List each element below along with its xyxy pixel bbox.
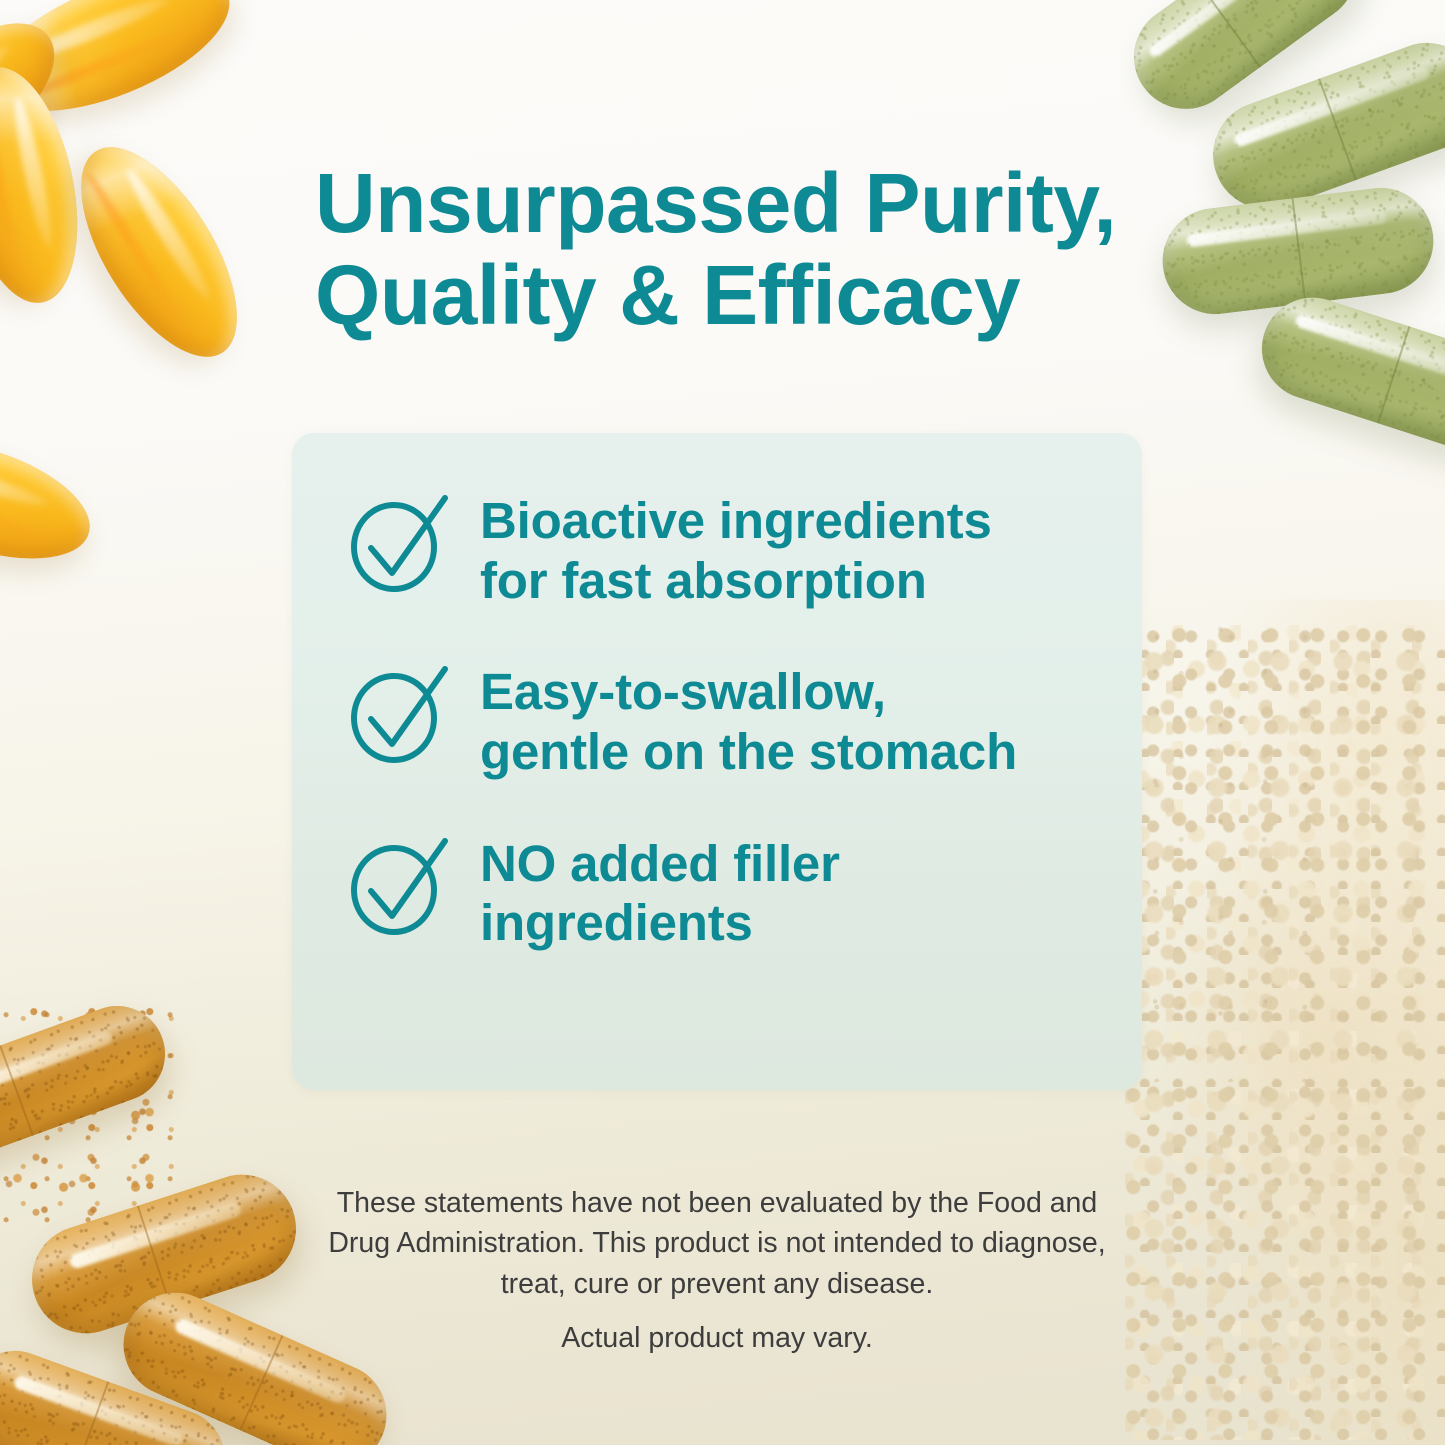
check-circle-icon [346,489,454,593]
page-title: Unsurpassed Purity, Quality & Efficacy [315,158,1175,341]
check-circle-icon [346,660,454,764]
benefits-card: Bioactive ingredients for fast absorptio… [292,433,1142,1090]
product-benefits-banner: Unsurpassed Purity, Quality & Efficacy B… [0,0,1445,1445]
product-variance-note: Actual product may vary. [292,1318,1142,1358]
benefit-label: NO added filler ingredients [480,828,840,953]
fda-disclaimer: These statements have not been evaluated… [292,1183,1142,1304]
check-circle-icon [346,832,454,936]
list-item: NO added filler ingredients [346,828,1096,953]
benefits-list: Bioactive ingredients for fast absorptio… [292,485,1142,953]
benefit-label: Easy-to-swallow, gentle on the stomach [480,656,1017,781]
benefit-label: Bioactive ingredients for fast absorptio… [480,485,992,610]
list-item: Bioactive ingredients for fast absorptio… [346,485,1096,610]
list-item: Easy-to-swallow, gentle on the stomach [346,656,1096,781]
